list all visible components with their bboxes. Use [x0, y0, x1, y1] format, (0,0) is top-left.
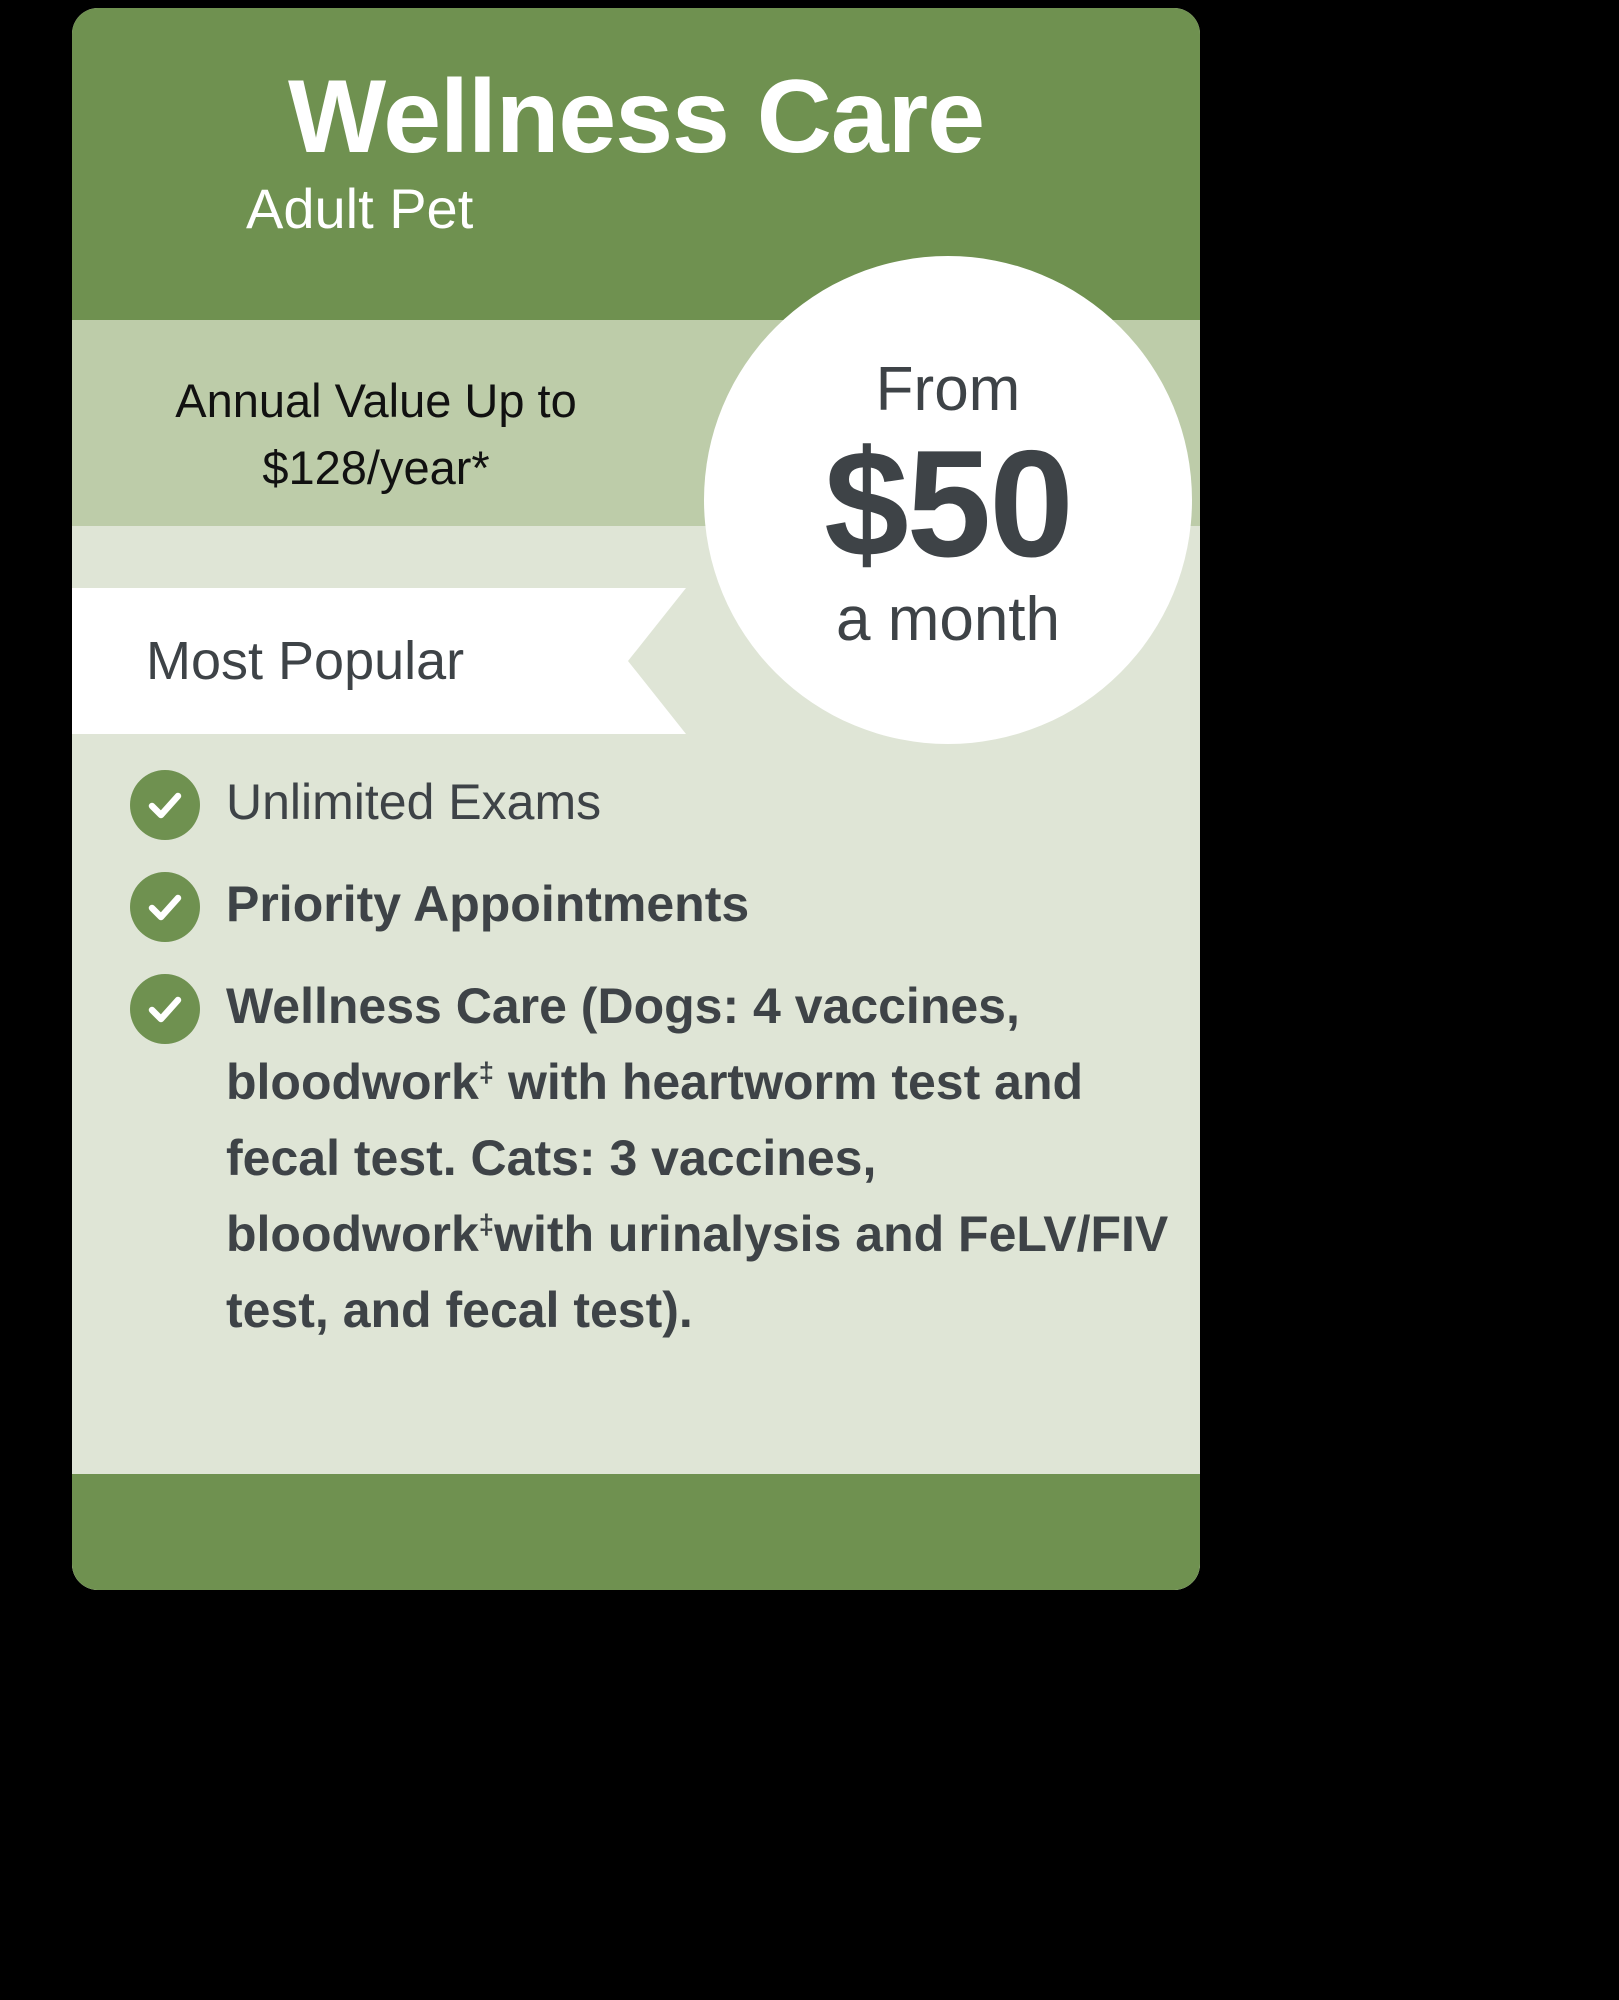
- check-icon: [130, 872, 200, 942]
- list-item: Wellness Care (Dogs: 4 vaccines, bloodwo…: [130, 968, 1178, 1348]
- list-item: Priority Appointments: [130, 866, 1178, 942]
- price-amount: $50: [824, 427, 1072, 582]
- price-from-label: From: [876, 359, 1021, 421]
- annual-value-text: Annual Value Up to $128/year*: [116, 368, 636, 501]
- feature-label: Unlimited Exams: [226, 764, 601, 840]
- ribbon-notch-icon: [628, 588, 686, 734]
- card-footer-strip: [72, 1474, 1200, 1590]
- list-item: Unlimited Exams: [130, 764, 1178, 840]
- check-icon: [130, 974, 200, 1044]
- most-popular-ribbon: Most Popular: [72, 588, 628, 734]
- plan-subtitle: Adult Pet: [116, 180, 1156, 239]
- screenshot-stage: Wellness Care Adult Pet Annual Value Up …: [0, 0, 1619, 2000]
- page-title: Wellness Care: [116, 64, 1156, 170]
- price-badge: From $50 a month: [704, 256, 1192, 744]
- feature-label: Wellness Care (Dogs: 4 vaccines, bloodwo…: [226, 968, 1178, 1348]
- price-period-label: a month: [836, 589, 1060, 651]
- feature-list: Unlimited Exams Priority Appointments: [130, 764, 1178, 1374]
- pricing-card: Wellness Care Adult Pet Annual Value Up …: [72, 8, 1200, 1590]
- dagger-marker: ‡: [479, 1056, 494, 1087]
- check-icon: [130, 770, 200, 840]
- status-badge: Most Popular: [146, 634, 464, 688]
- dagger-marker: ‡: [479, 1208, 494, 1239]
- feature-label: Priority Appointments: [226, 866, 749, 942]
